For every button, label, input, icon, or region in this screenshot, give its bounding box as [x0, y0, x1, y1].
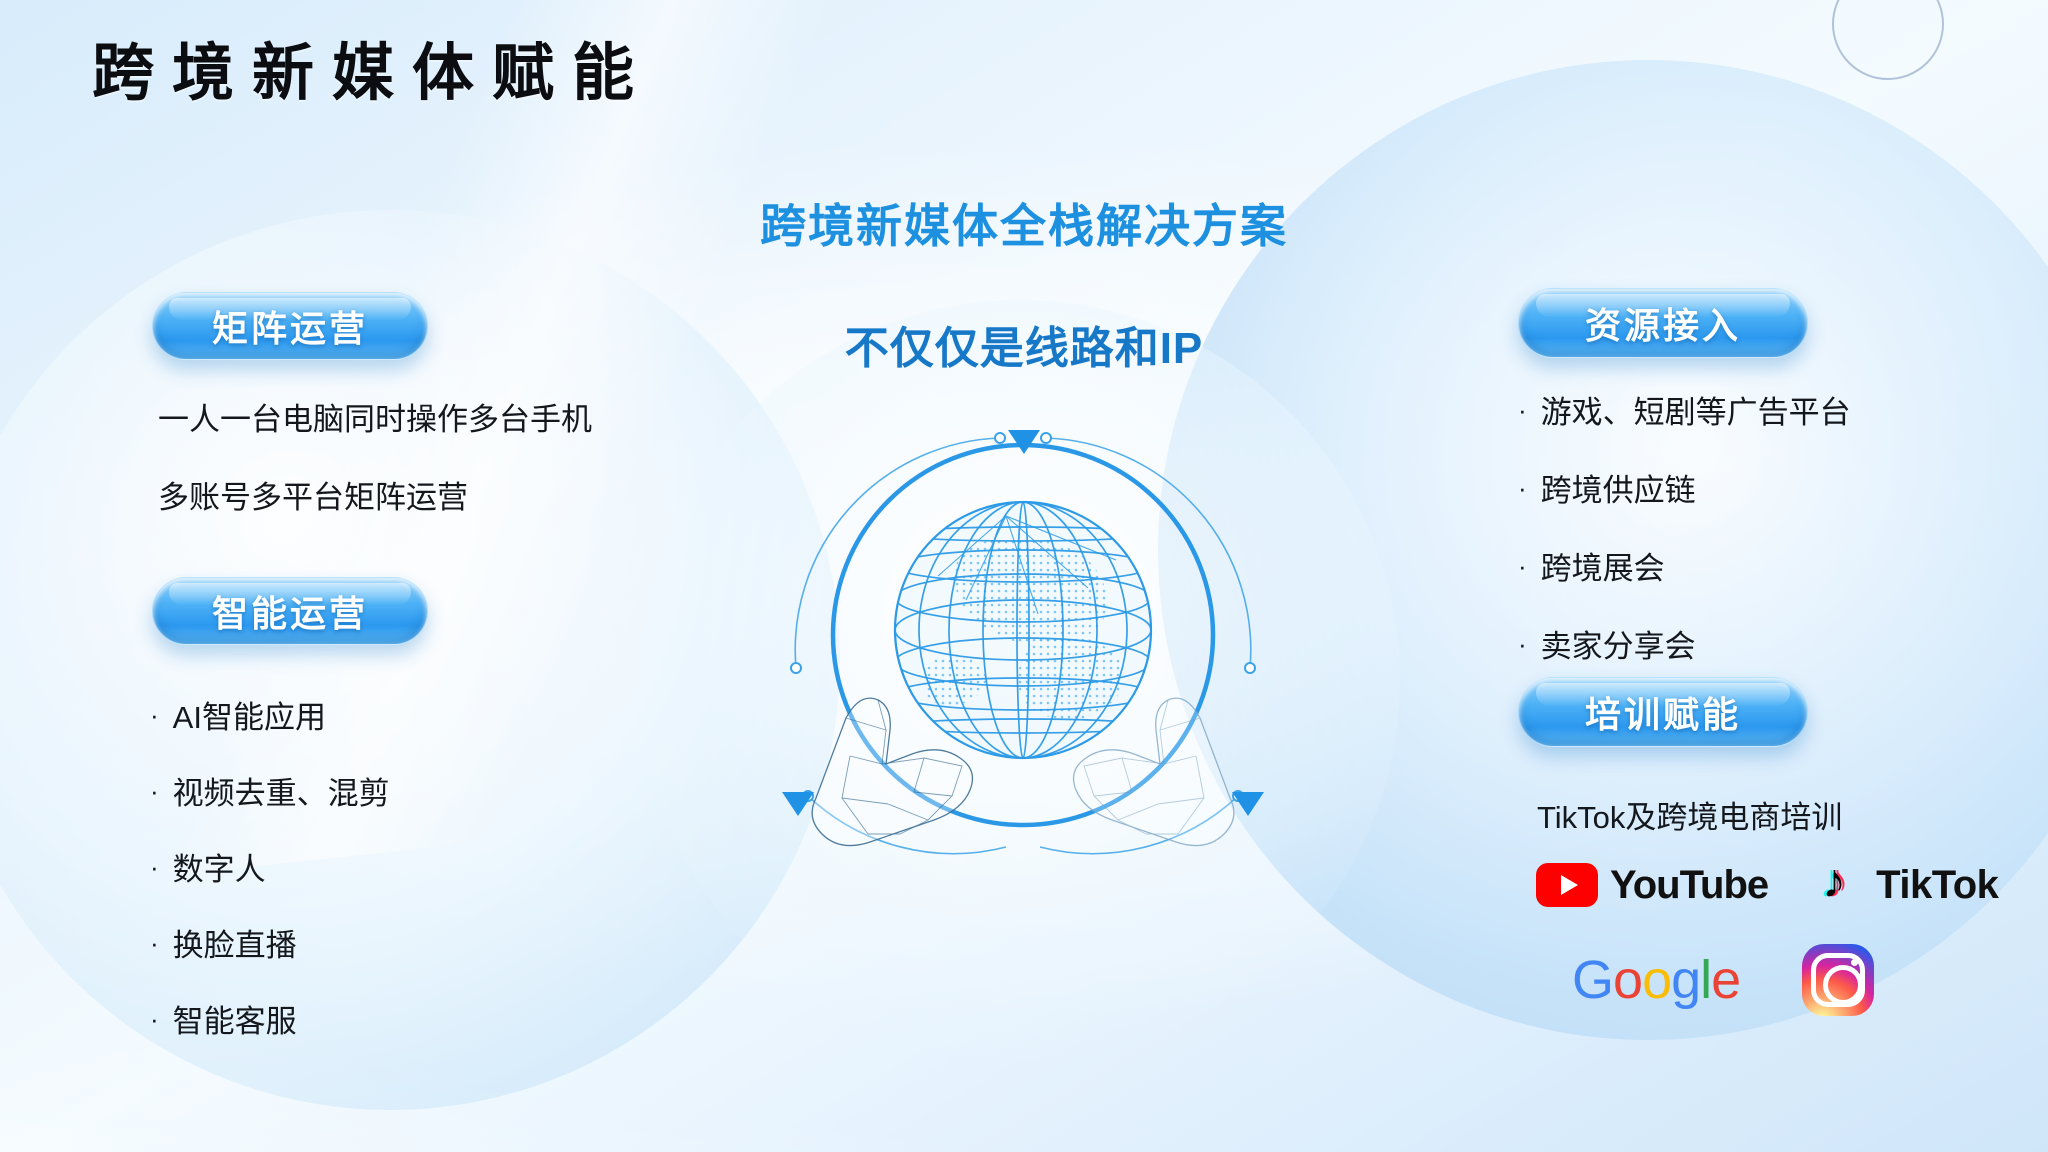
right-bullet-list: · 游戏、短剧等广告平台 · 跨境供应链 · 跨境展会 · 卖家分享会 [1518, 387, 1851, 699]
bullet-marker-icon: · [150, 930, 159, 956]
google-letter-o1: o [1613, 950, 1642, 1010]
logo-row-bottom: Google [1500, 944, 1970, 1016]
bullet-marker-icon: · [150, 854, 159, 880]
tiktok-note-icon: ♪ ♪ ♪ [1822, 862, 1866, 908]
list-item-label: 智能客服 [173, 996, 297, 1041]
list-item: · 跨境供应链 [1518, 465, 1851, 510]
bullet-marker-icon: · [150, 1006, 159, 1032]
youtube-logo[interactable]: YouTube [1536, 863, 1768, 908]
tiktok-logo[interactable]: ♪ ♪ ♪ TikTok [1822, 862, 1998, 908]
tiktok-logo-label: TikTok [1876, 863, 1998, 908]
google-letter-e: e [1711, 950, 1740, 1010]
list-item-label: 游戏、短剧等广告平台 [1541, 387, 1851, 432]
google-logo[interactable]: Google [1572, 953, 1740, 1007]
bullet-marker-icon: · [1518, 475, 1527, 501]
google-letter-g1: G [1572, 950, 1613, 1010]
badge-smart-operations[interactable]: 智能运营 [152, 577, 428, 645]
bullet-marker-icon: · [1518, 397, 1527, 423]
center-subtitle-primary: 跨境新媒体全栈解决方案 [0, 190, 2048, 256]
list-item-label: 换脸直播 [173, 920, 297, 965]
list-item: · AI智能应用 [150, 692, 390, 737]
bullet-marker-icon: · [1518, 631, 1527, 657]
badge-matrix-operations-label: 矩阵运营 [212, 300, 368, 352]
list-item: · 数字人 [150, 844, 390, 889]
badge-matrix-operations[interactable]: 矩阵运营 [152, 292, 428, 360]
slide-canvas: 跨境新媒体赋能 跨境新媒体全栈解决方案 不仅仅是线路和IP [0, 0, 2048, 1152]
google-letter-o2: o [1642, 950, 1671, 1010]
list-item: · 智能客服 [150, 996, 390, 1041]
instagram-lens-icon [1823, 965, 1863, 1005]
logo-row-top: YouTube ♪ ♪ ♪ TikTok [1500, 862, 1970, 908]
youtube-logo-label: YouTube [1610, 863, 1768, 908]
badge-training-empowerment[interactable]: 培训赋能 [1518, 677, 1808, 747]
note-glyph-black: ♪ [1822, 858, 1846, 906]
list-item: · 卖家分享会 [1518, 621, 1851, 666]
decorative-ring-icon [1832, 0, 1944, 80]
training-description: TikTok及跨境电商培训 [1537, 792, 1842, 837]
badge-smart-operations-label: 智能运营 [212, 585, 368, 637]
list-item-label: 卖家分享会 [1541, 621, 1696, 666]
badge-training-empowerment-label: 培训赋能 [1585, 686, 1741, 738]
left-bullet-list: · AI智能应用 · 视频去重、混剪 · 数字人 · 换脸直播 · 智能客服 [150, 692, 390, 1072]
list-item: · 视频去重、混剪 [150, 768, 390, 813]
list-item: · 游戏、短剧等广告平台 [1518, 387, 1851, 432]
youtube-play-icon [1536, 863, 1598, 907]
bullet-marker-icon: · [1518, 553, 1527, 579]
left-line-1: 一人一台电脑同时操作多台手机 [158, 404, 592, 435]
page-title: 跨境新媒体赋能 [92, 40, 652, 108]
badge-resource-access-label: 资源接入 [1585, 297, 1741, 349]
globe-in-hands-icon [738, 400, 1308, 870]
list-item-label: 视频去重、混剪 [173, 768, 390, 813]
list-item-label: 跨境展会 [1541, 543, 1665, 588]
instagram-logo[interactable] [1802, 944, 1874, 1016]
list-item-label: 数字人 [173, 844, 266, 889]
list-item-label: AI智能应用 [173, 692, 326, 737]
badge-resource-access[interactable]: 资源接入 [1518, 288, 1808, 358]
google-letter-l: l [1700, 950, 1711, 1010]
bullet-marker-icon: · [150, 702, 159, 728]
left-line-2: 多账号多平台矩阵运营 [158, 482, 468, 513]
play-triangle-icon [1561, 875, 1578, 895]
google-letter-g2: g [1671, 950, 1700, 1010]
list-item: · 跨境展会 [1518, 543, 1851, 588]
bullet-marker-icon: · [150, 778, 159, 804]
platform-logo-group: YouTube ♪ ♪ ♪ TikTok Google [1500, 862, 1970, 1016]
list-item: · 换脸直播 [150, 920, 390, 965]
list-item-label: 跨境供应链 [1541, 465, 1696, 510]
